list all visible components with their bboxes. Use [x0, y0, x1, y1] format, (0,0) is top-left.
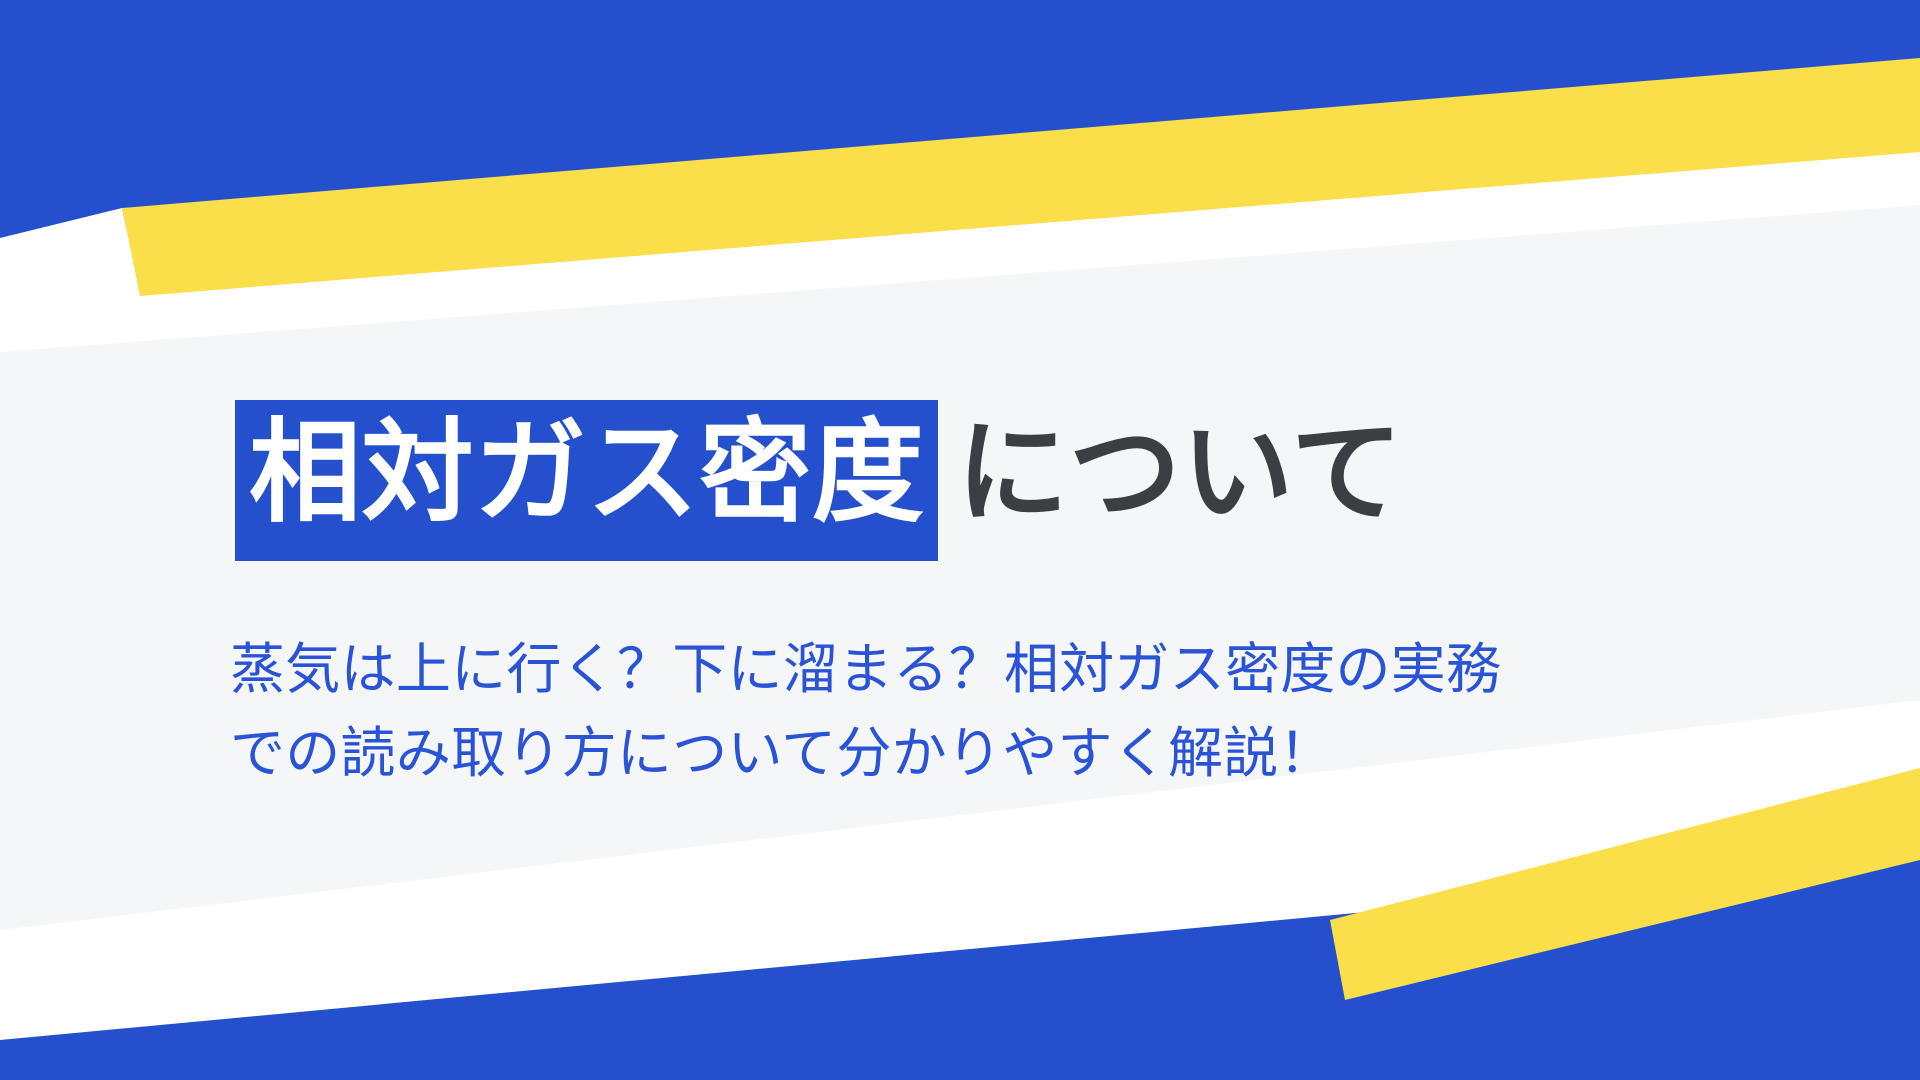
- page-title-suffix: について: [938, 400, 1403, 561]
- page-title-highlight: 相対ガス密度: [235, 400, 938, 561]
- page-subtitle-line-1: 蒸気は上に行く？下に溜まる？相対ガス密度の実務: [230, 628, 1730, 712]
- page-subtitle-line-2: での読み取り方について分かりやすく解説！: [230, 712, 1730, 796]
- page-title: 相対ガス密度 について: [235, 400, 1403, 561]
- page-subtitle: 蒸気は上に行く？下に溜まる？相対ガス密度の実務 での読み取り方について分かりやす…: [230, 628, 1730, 795]
- slide-content: 相対ガス密度 について 蒸気は上に行く？下に溜まる？相対ガス密度の実務 での読み…: [0, 0, 1920, 1080]
- slide-canvas: 相対ガス密度 について 蒸気は上に行く？下に溜まる？相対ガス密度の実務 での読み…: [0, 0, 1920, 1080]
